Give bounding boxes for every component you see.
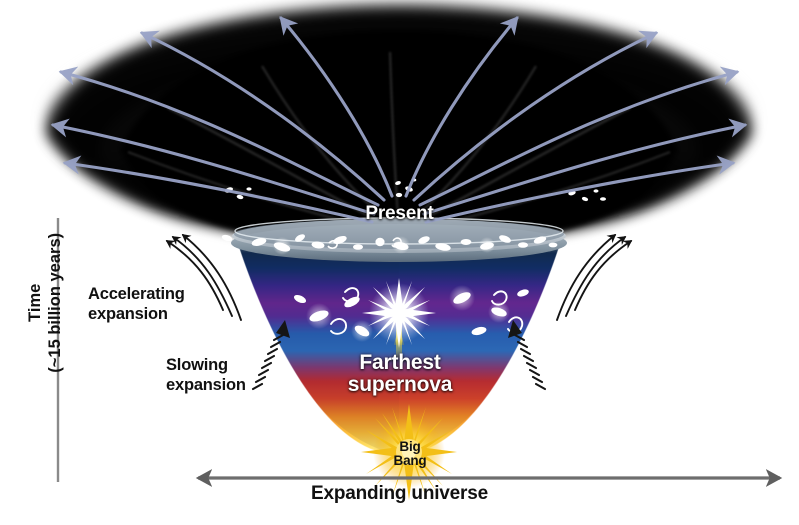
big-bang-line2: Bang <box>394 453 427 468</box>
expanding-universe-label: Expanding universe <box>0 483 799 505</box>
big-bang-line1: Big <box>399 439 420 454</box>
slowing-line2: expansion <box>166 376 246 394</box>
farthest-supernova-line2: supernova <box>348 373 452 396</box>
accelerating-arrows-right <box>557 235 631 320</box>
accelerating-line2: expansion <box>88 305 168 323</box>
diagram-canvas: Time(~15 billion years) Present Farthest… <box>0 0 799 525</box>
present-label: Present <box>0 203 799 225</box>
farthest-supernova-line1: Farthest <box>359 351 440 374</box>
time-axis-line2: (~15 billion years) <box>46 233 64 373</box>
slowing-line1: Slowing <box>166 356 228 374</box>
big-bang-label: BigBang <box>378 440 442 468</box>
time-axis-line1: Time <box>26 284 44 322</box>
accelerating-line1: Accelerating <box>88 285 185 303</box>
accelerating-expansion-label: Acceleratingexpansion <box>88 284 185 324</box>
farthest-supernova-label: Farthestsupernova <box>290 352 510 397</box>
slowing-expansion-label: Slowingexpansion <box>166 355 246 395</box>
